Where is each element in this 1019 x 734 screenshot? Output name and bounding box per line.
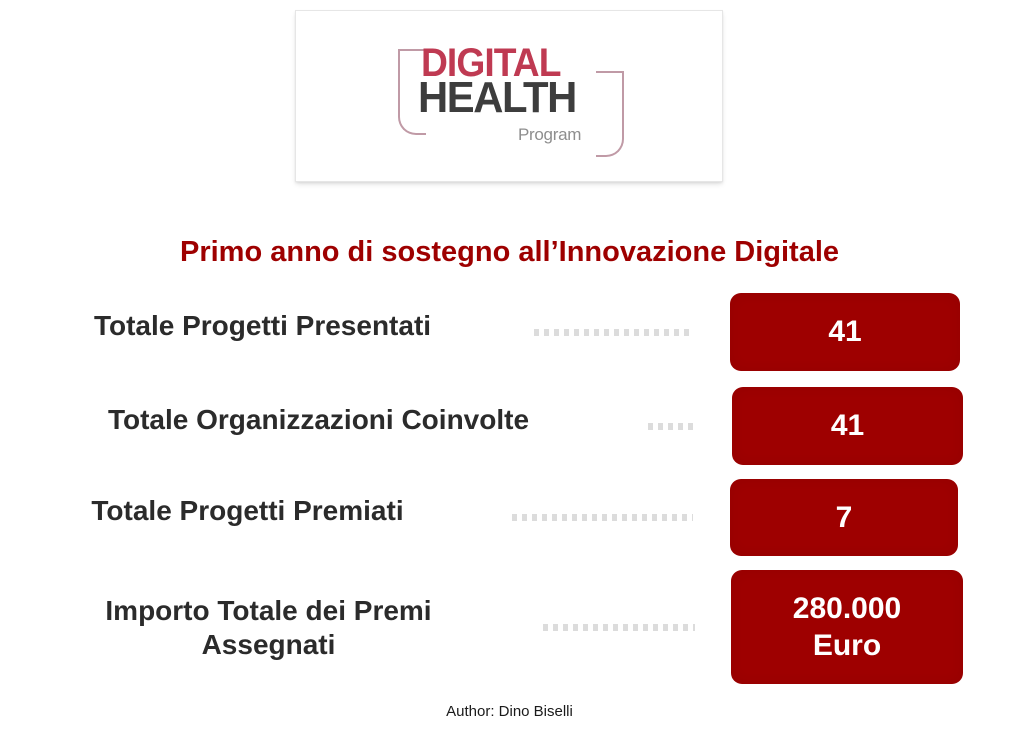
stat-label: Totale Organizzazioni Coinvolte bbox=[20, 403, 617, 437]
page-title: Primo anno di sostegno all’Innovazione D… bbox=[0, 236, 1019, 269]
stat-value-box: 280.000 Euro bbox=[731, 570, 963, 684]
stat-label: Totale Progetti Premiati bbox=[20, 494, 475, 528]
dotted-leader bbox=[648, 423, 696, 430]
stat-row: Totale Progetti Presentati 41 bbox=[0, 293, 1019, 375]
stat-label: Importo Totale dei Premi Assegnati bbox=[20, 594, 517, 662]
stat-row: Totale Organizzazioni Coinvolte 41 bbox=[0, 387, 1019, 469]
logo-right-bracket-icon bbox=[596, 71, 624, 157]
logo-card: DIGITAL HEALTH Program bbox=[295, 10, 723, 182]
dotted-leader bbox=[543, 624, 695, 631]
stat-value-box: 41 bbox=[732, 387, 963, 465]
digital-health-program-logo: DIGITAL HEALTH Program bbox=[398, 43, 622, 153]
stat-row: Totale Progetti Premiati 7 bbox=[0, 479, 1019, 557]
stat-value-box: 7 bbox=[730, 479, 958, 556]
author-credit: Author: Dino Biselli bbox=[0, 703, 1019, 720]
stat-row: Importo Totale dei Premi Assegnati 280.0… bbox=[0, 570, 1019, 684]
logo-inner: DIGITAL HEALTH Program bbox=[296, 11, 722, 181]
dotted-leader bbox=[512, 514, 693, 521]
dotted-leader bbox=[534, 329, 694, 336]
logo-word-health: HEALTH bbox=[418, 76, 576, 120]
stat-value-box: 41 bbox=[730, 293, 960, 371]
stat-label: Totale Progetti Presentati bbox=[20, 309, 505, 343]
logo-word-program: Program bbox=[518, 125, 581, 145]
